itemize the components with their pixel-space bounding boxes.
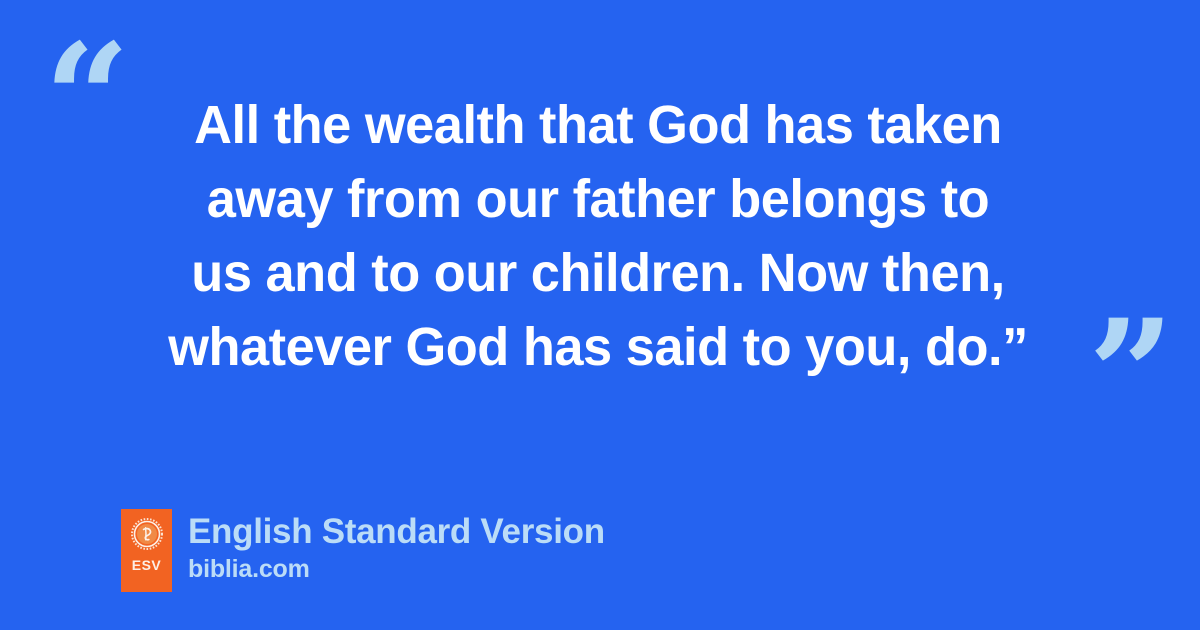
quote-line: All the wealth that God has taken [132, 88, 1063, 162]
verse-image-card: “ All the wealth that God has taken away… [0, 0, 1200, 630]
bible-version-name: English Standard Version [188, 511, 605, 553]
website-url: biblia.com [188, 554, 605, 584]
esv-logo-label: ESV [132, 558, 162, 572]
quote-text-block: All the wealth that God has taken away f… [118, 88, 1078, 384]
close-quote-icon: ” [1088, 300, 1172, 450]
quote-line: us and to our children. Now then, [132, 236, 1063, 310]
esv-seal-icon [131, 518, 163, 550]
esv-logo: ESV [121, 509, 172, 592]
attribution: ESV English Standard Version biblia.com [121, 509, 605, 592]
open-quote-icon: “ [44, 24, 128, 174]
attribution-text: English Standard Version biblia.com [188, 509, 605, 584]
quote-line: away from our father belongs to [132, 162, 1063, 236]
quote-line: whatever God has said to you, do.” [132, 310, 1063, 384]
